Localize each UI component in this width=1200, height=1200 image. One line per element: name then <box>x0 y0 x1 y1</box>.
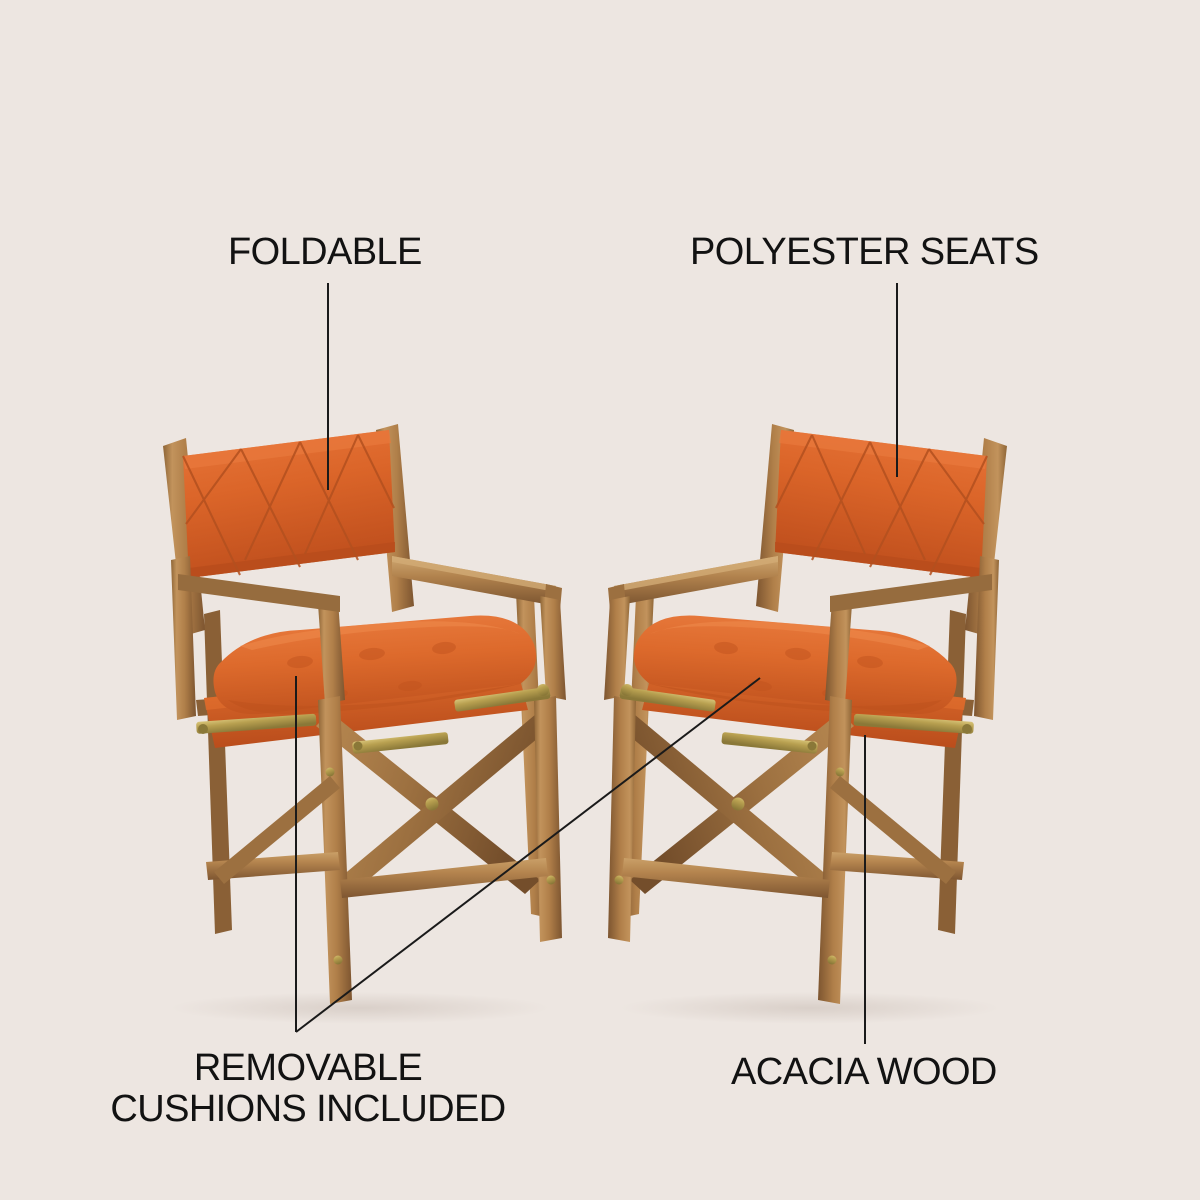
callout-label-polyester-seats: POLYESTER SEATS <box>690 232 1039 273</box>
callout-label-acacia-wood: ACACIA WOOD <box>731 1052 997 1093</box>
callout-label-removable-line2: CUSHIONS INCLUDED <box>108 1089 508 1130</box>
pivot-screw <box>732 798 745 811</box>
callout-label-removable-cushions: REMOVABLE CUSHIONS INCLUDED <box>108 1048 508 1130</box>
callout-label-removable-line1: REMOVABLE <box>108 1048 508 1089</box>
pivot-screw <box>426 798 439 811</box>
chair-left-shadow <box>170 992 550 1024</box>
product-scene <box>0 0 1200 1200</box>
chair-right-shadow <box>620 992 1000 1024</box>
product-infographic: FOLDABLE POLYESTER SEATS REMOVABLE CUSHI… <box>0 0 1200 1200</box>
backrest-cushion <box>775 430 987 578</box>
backrest-cushion <box>183 430 395 578</box>
callout-label-foldable: FOLDABLE <box>228 232 422 273</box>
